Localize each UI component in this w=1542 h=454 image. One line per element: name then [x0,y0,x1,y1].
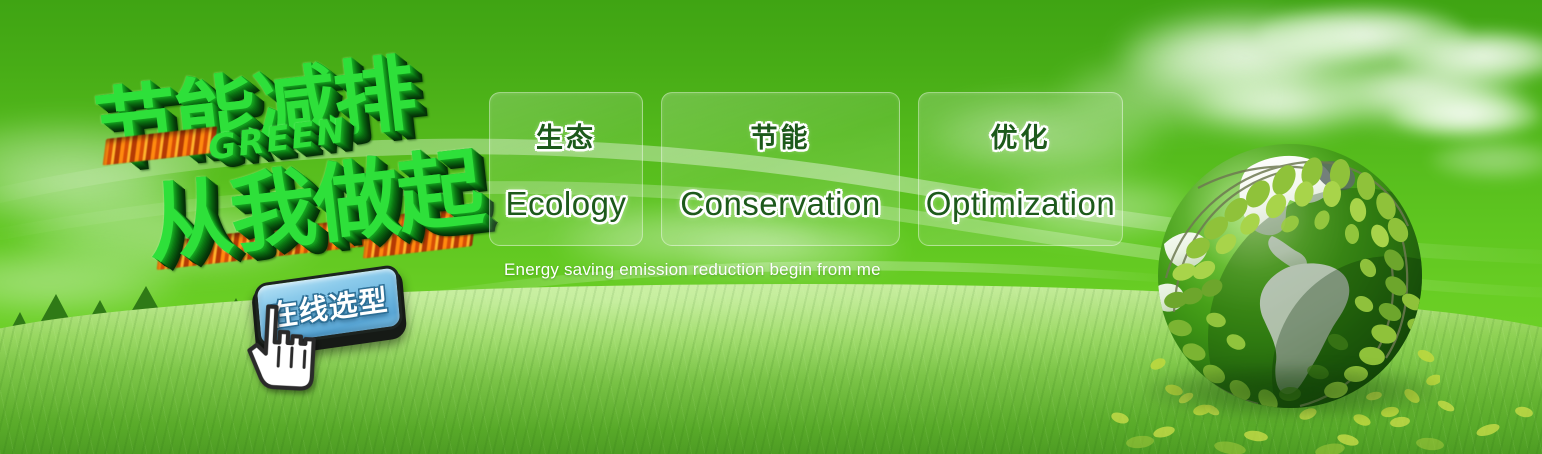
card-title-en: Conservation [680,185,880,223]
card-title-cn: 节能 [751,116,811,155]
cloud-icon [1430,140,1542,180]
tagline-text: Energy saving emission reduction begin f… [504,260,881,280]
feature-card-ecology[interactable]: 生态 Ecology [489,92,643,246]
globe-shadow [1146,364,1438,418]
card-title-en: Ecology [506,185,627,223]
card-title-en: Optimization [926,185,1115,223]
feature-card-list: 生态 Ecology 节能 Conservation 优化 Optimizati… [489,92,1123,246]
card-title-cn: 生态 [536,116,596,155]
card-title-cn: 优化 [991,116,1051,155]
feature-card-conservation[interactable]: 节能 Conservation [661,92,900,246]
headline-artwork: 节能减排 从我做起 GREEN [79,12,504,301]
pointing-hand-cursor-icon [238,298,319,394]
green-energy-banner: 节能减排 从我做起 GREEN 在线选型 生态 Ecology 节能 Conse… [0,0,1542,454]
leafy-globe-icon [1140,128,1440,428]
feature-card-optimization[interactable]: 优化 Optimization [918,92,1123,246]
